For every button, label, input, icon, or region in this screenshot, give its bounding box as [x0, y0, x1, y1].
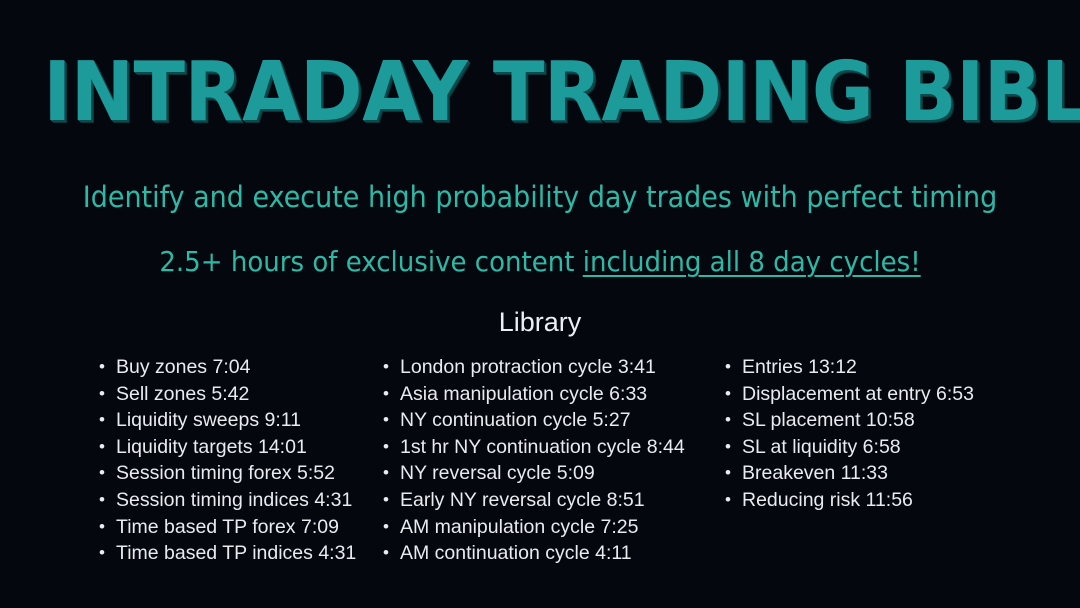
list-item: Displacement at entry 6:53	[721, 381, 1051, 408]
tagline-text: 2.5+ hours of exclusive content includin…	[38, 243, 1042, 280]
list-item: NY continuation cycle 5:27	[379, 407, 719, 434]
list-item: Early NY reversal cycle 8:51	[379, 487, 719, 514]
page-title: INTRADAY TRADING BIBLE	[43, 48, 1037, 138]
tagline-plain: 2.5+ hours of exclusive content	[159, 245, 582, 278]
slide-canvas: INTRADAY TRADING BIBLE Identify and exec…	[0, 0, 1080, 608]
library-list-3: Entries 13:12 Displacement at entry 6:53…	[721, 354, 1051, 514]
list-item: Buy zones 7:04	[95, 354, 385, 381]
list-item: Entries 13:12	[721, 354, 1051, 381]
library-list-1: Buy zones 7:04 Sell zones 5:42 Liquidity…	[95, 354, 385, 567]
list-item: London protraction cycle 3:41	[379, 354, 719, 381]
library-heading: Library	[0, 305, 1080, 339]
library-columns: Buy zones 7:04 Sell zones 5:42 Liquidity…	[0, 354, 1080, 594]
list-item: Session timing indices 4:31	[95, 487, 385, 514]
list-item: Session timing forex 5:52	[95, 460, 385, 487]
list-item: SL placement 10:58	[721, 407, 1051, 434]
library-column-3: Entries 13:12 Displacement at entry 6:53…	[721, 354, 1051, 514]
list-item: Time based TP indices 4:31	[95, 540, 385, 567]
list-item: SL at liquidity 6:58	[721, 434, 1051, 461]
tagline-underlined: including all 8 day cycles!	[583, 245, 921, 278]
list-item: Liquidity targets 14:01	[95, 434, 385, 461]
list-item: Liquidity sweeps 9:11	[95, 407, 385, 434]
list-item: Sell zones 5:42	[95, 381, 385, 408]
library-list-2: London protraction cycle 3:41 Asia manip…	[379, 354, 719, 567]
list-item: Time based TP forex 7:09	[95, 514, 385, 541]
subtitle-text: Identify and execute high probability da…	[38, 178, 1042, 216]
list-item: Asia manipulation cycle 6:33	[379, 381, 719, 408]
list-item: Breakeven 11:33	[721, 460, 1051, 487]
list-item: NY reversal cycle 5:09	[379, 460, 719, 487]
list-item: 1st hr NY continuation cycle 8:44	[379, 434, 719, 461]
library-column-1: Buy zones 7:04 Sell zones 5:42 Liquidity…	[95, 354, 385, 567]
list-item: Reducing risk 11:56	[721, 487, 1051, 514]
list-item: AM manipulation cycle 7:25	[379, 514, 719, 541]
library-column-2: London protraction cycle 3:41 Asia manip…	[379, 354, 719, 567]
list-item: AM continuation cycle 4:11	[379, 540, 719, 567]
